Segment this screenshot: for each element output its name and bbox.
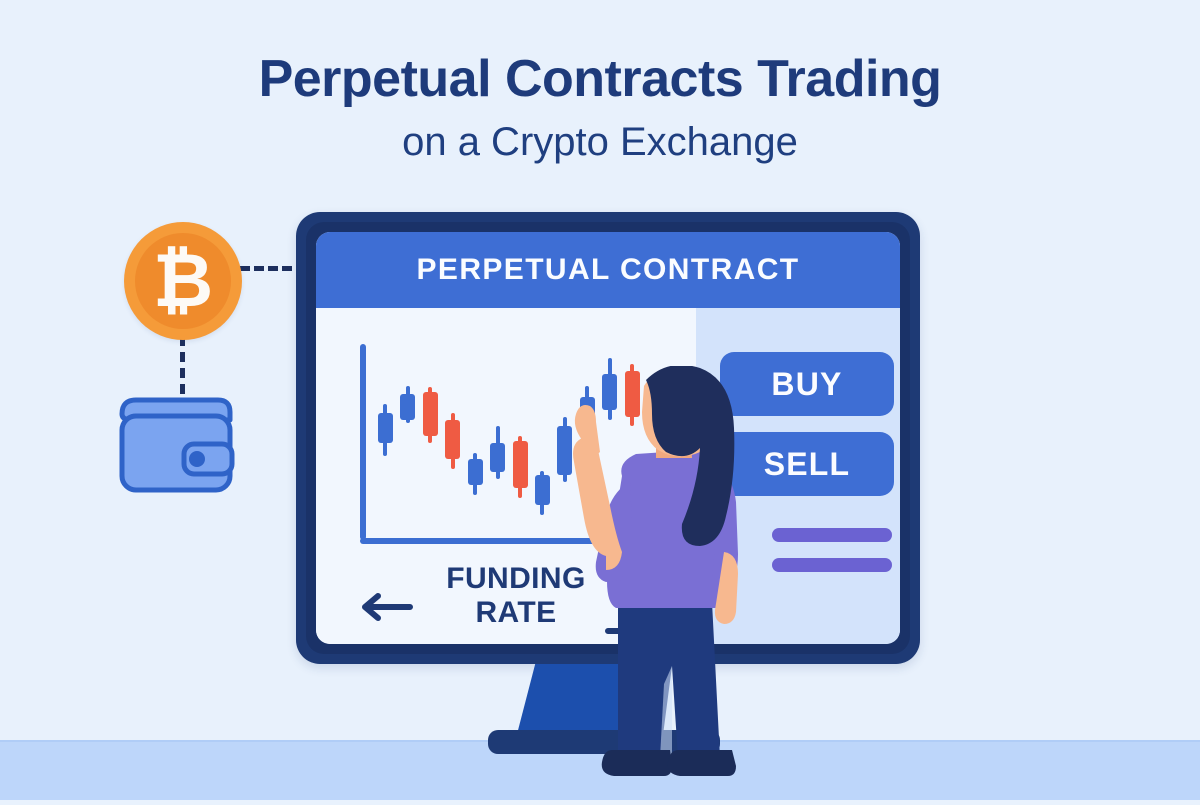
candlestick — [378, 404, 393, 456]
candlestick — [400, 386, 415, 424]
order-detail-bar-2 — [772, 558, 892, 572]
candlestick — [513, 436, 528, 498]
person-shoe-right — [668, 750, 736, 776]
bitcoin-symbol-icon: ₿ — [124, 222, 242, 340]
screen-header-bar: PERPETUAL CONTRACT — [316, 232, 900, 308]
chart-y-axis — [360, 344, 366, 540]
candlestick — [535, 471, 550, 515]
candle-body — [513, 441, 528, 488]
bitcoin-coin-icon: ₿ — [124, 222, 242, 340]
arrow-left-icon — [358, 592, 414, 622]
title-line-2: on a Crypto Exchange — [0, 121, 1200, 163]
wallet-icon — [114, 392, 238, 496]
candlestick — [445, 413, 460, 469]
title-line-1: Perpetual Contracts Trading — [0, 52, 1200, 107]
candlestick — [423, 387, 438, 443]
order-detail-bar-1 — [772, 528, 892, 542]
candle-body — [400, 394, 415, 420]
screen-header-title: PERPETUAL CONTRACT — [417, 253, 800, 287]
page-title: Perpetual Contracts Trading on a Crypto … — [0, 52, 1200, 163]
trader-person-illustration — [560, 366, 790, 800]
candlestick — [490, 426, 505, 478]
illustration-canvas: Perpetual Contracts Trading on a Crypto … — [0, 0, 1200, 800]
candle-body — [378, 413, 393, 442]
candle-body — [468, 459, 483, 485]
candle-body — [445, 420, 460, 459]
funding-label-line-2: RATE — [475, 596, 556, 629]
connector-coin-to-wallet — [180, 336, 185, 394]
candle-body — [423, 392, 438, 436]
person-shoe-left — [602, 750, 672, 776]
candle-body — [535, 475, 550, 504]
candle-body — [490, 443, 505, 472]
candlestick — [468, 453, 483, 495]
